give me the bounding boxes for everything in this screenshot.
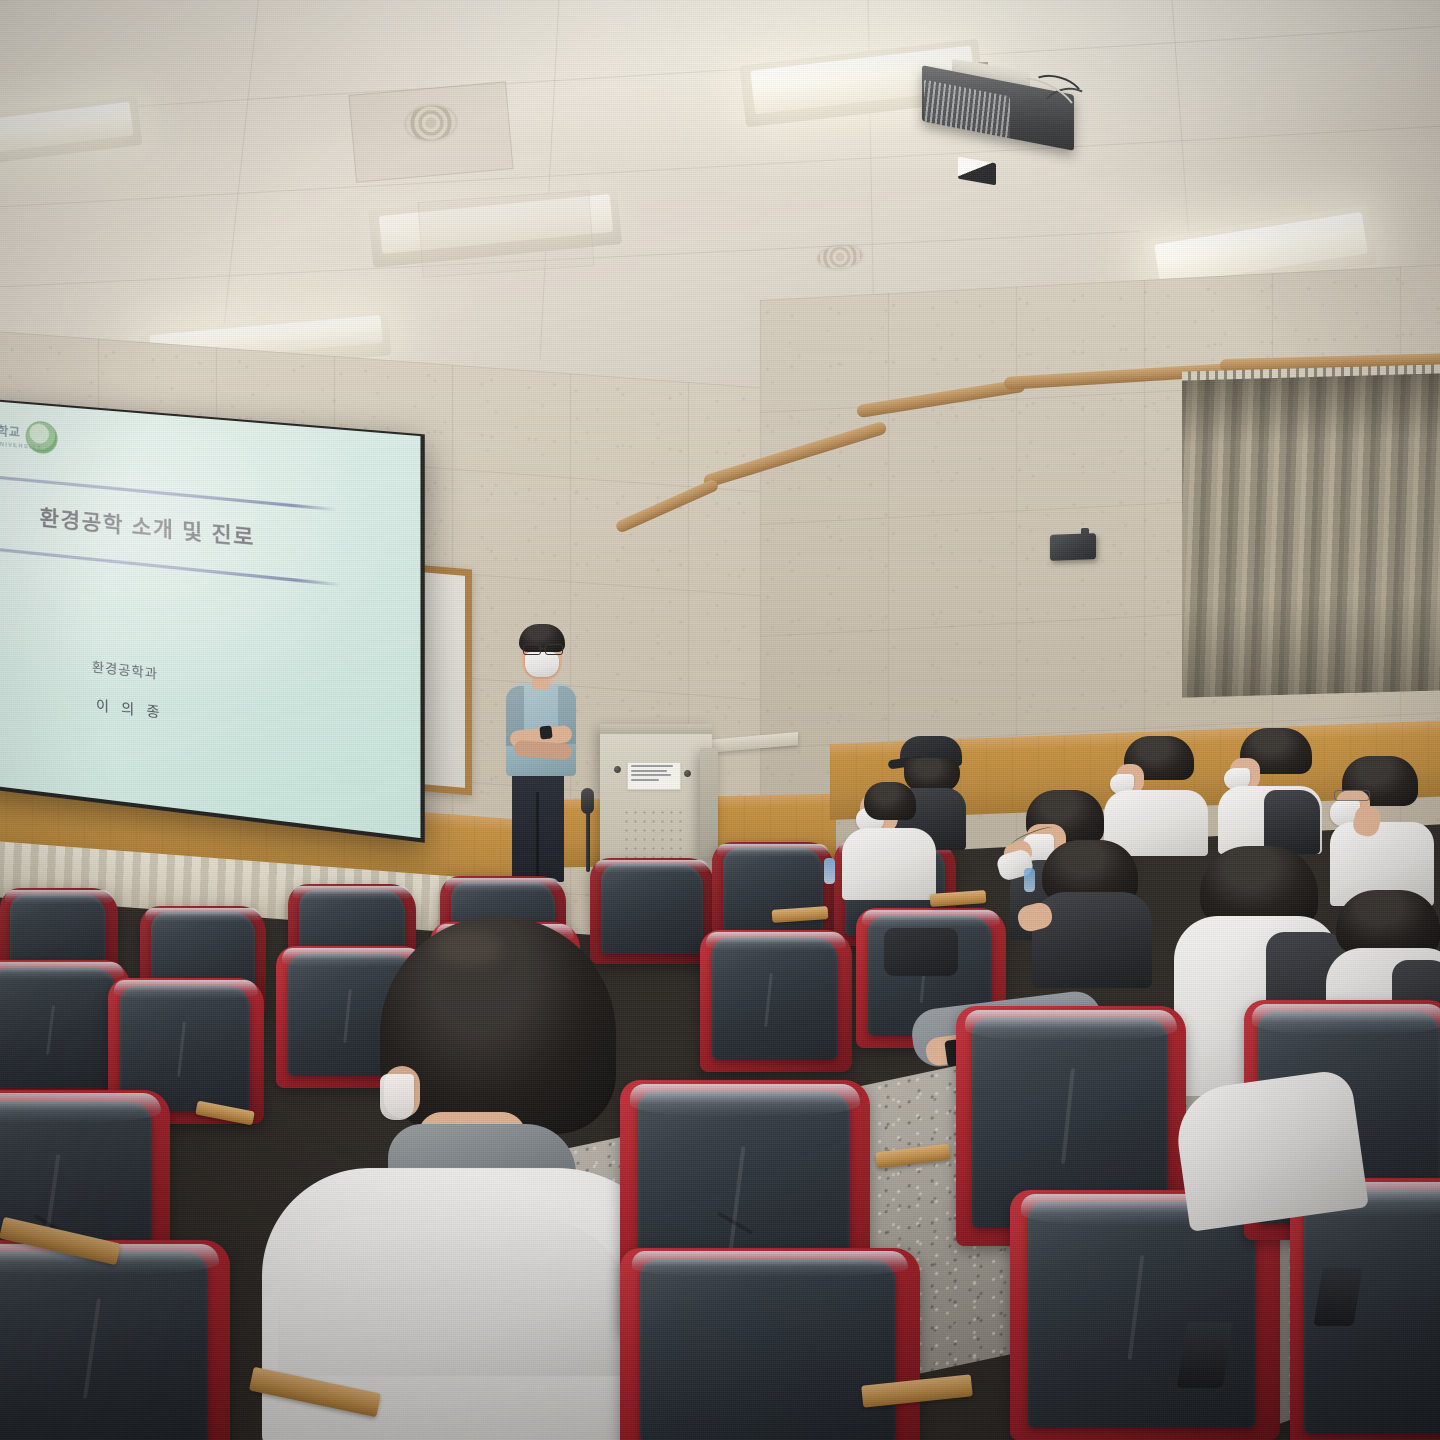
student-vest [1032, 892, 1152, 988]
water-bottle[interactable] [824, 858, 835, 884]
student-glasses-icon [1334, 790, 1370, 801]
student-hair [1200, 846, 1318, 924]
presenter-glasses-icon [523, 644, 562, 653]
presentation-slide: 대학교 U UNIVERSITY 환경공학 소개 및 진로 환경공학과 이 의 … [0, 400, 420, 838]
projection-screen: 대학교 U UNIVERSITY 환경공학 소개 및 진로 환경공학과 이 의 … [0, 398, 425, 843]
seat-row[interactable] [620, 1248, 920, 1440]
foreground-student-mask [380, 1074, 414, 1120]
backpack [884, 928, 958, 976]
lecture-hall-photo: 대학교 U UNIVERSITY 환경공학 소개 및 진로 환경공학과 이 의 … [0, 0, 1440, 1440]
student [1216, 728, 1326, 854]
lectern-vent-dots [622, 808, 686, 862]
student [838, 770, 948, 900]
presenter-watch [539, 725, 552, 739]
vent-plate-center [418, 190, 595, 278]
presenter [500, 616, 620, 876]
lectern-notice-label [627, 762, 681, 790]
student [1180, 1040, 1410, 1220]
student-hair [864, 782, 916, 820]
lectern-knob-right [684, 770, 691, 777]
student [1104, 736, 1212, 856]
window-recess [1182, 368, 1440, 697]
presenter-face-mask [525, 652, 559, 677]
seat-row[interactable] [1010, 1190, 1280, 1440]
student-shirt [842, 828, 936, 900]
ceiling-projector [908, 62, 1108, 192]
tablet-arm[interactable] [930, 890, 987, 907]
wall-speaker [1050, 533, 1096, 561]
seat-row[interactable] [0, 1240, 230, 1440]
student-sleeve [1171, 1068, 1369, 1232]
student-vest [1264, 790, 1320, 854]
